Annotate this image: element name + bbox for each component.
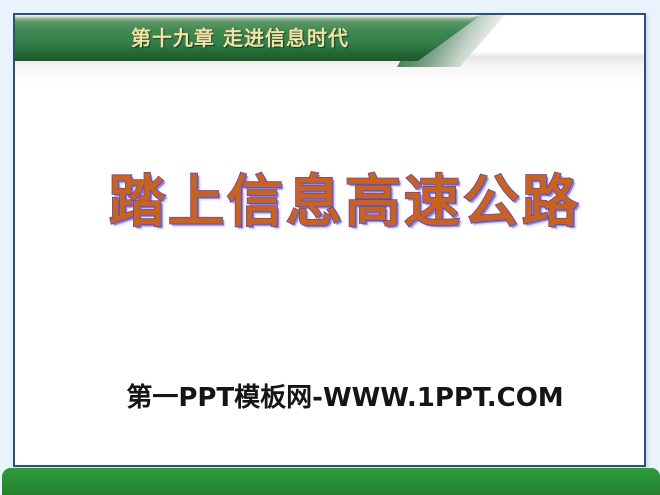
bottom-green-bar-fill xyxy=(2,468,660,495)
bottom-green-bar xyxy=(2,468,660,495)
chapter-banner-label: 第十九章 走进信息时代 xyxy=(15,15,415,61)
page-title: 踏上信息高速公路 xyxy=(15,157,660,238)
chapter-banner: 第十九章 走进信息时代 xyxy=(15,15,481,61)
slide-content-panel: 第十九章 走进信息时代 踏上信息高速公路 第一PPT模板网-WWW.1PPT.C… xyxy=(13,13,646,467)
presentation-slide: 第十九章 走进信息时代 踏上信息高速公路 第一PPT模板网-WWW.1PPT.C… xyxy=(0,0,660,495)
watermark-text: 第一PPT模板网-WWW.1PPT.COM xyxy=(15,377,660,414)
